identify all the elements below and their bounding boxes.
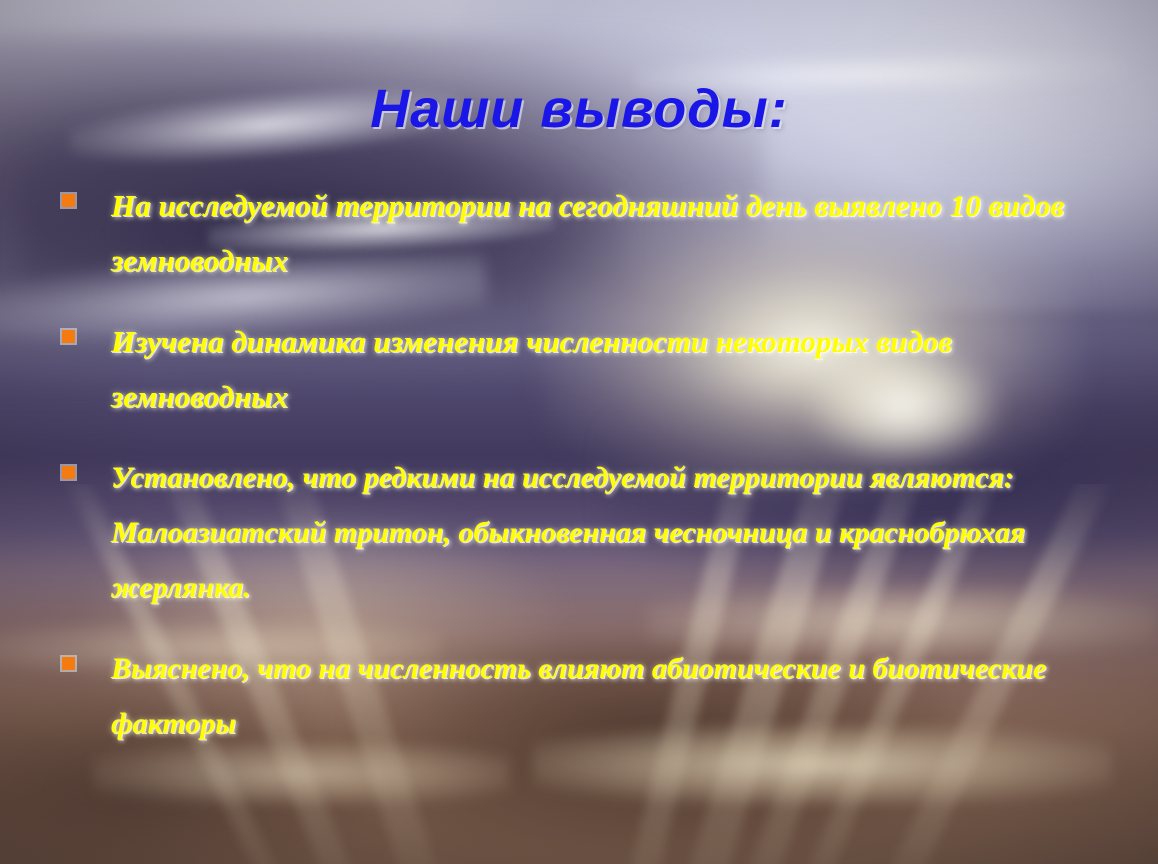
list-item: Изучена динамика изменения численности н… [62, 314, 1118, 424]
list-item: Выяснено, что на численность влияют абио… [62, 641, 1118, 751]
list-item-label: На исследуемой территории на сегодняшний… [111, 178, 1118, 288]
square-bullet-icon [62, 330, 75, 343]
bullet-list: На исследуемой территории на сегодняшний… [62, 178, 1118, 751]
page-title: Наши выводы: [0, 78, 1158, 140]
list-item-label: Выяснено, что на численность влияют абио… [111, 641, 1118, 751]
list-item-label: Изучена динамика изменения численности н… [111, 314, 1118, 424]
list-item-label: Установлено, что редкими на исследуемой … [111, 450, 1118, 615]
presentation-slide: Наши выводы: На исследуемой территории н… [0, 0, 1158, 864]
square-bullet-icon [62, 194, 75, 207]
slide-content: Наши выводы: На исследуемой территории н… [0, 0, 1158, 864]
list-item: Установлено, что редкими на исследуемой … [62, 450, 1118, 615]
square-bullet-icon [62, 657, 75, 670]
list-item: На исследуемой территории на сегодняшний… [62, 178, 1118, 288]
square-bullet-icon [62, 466, 75, 479]
